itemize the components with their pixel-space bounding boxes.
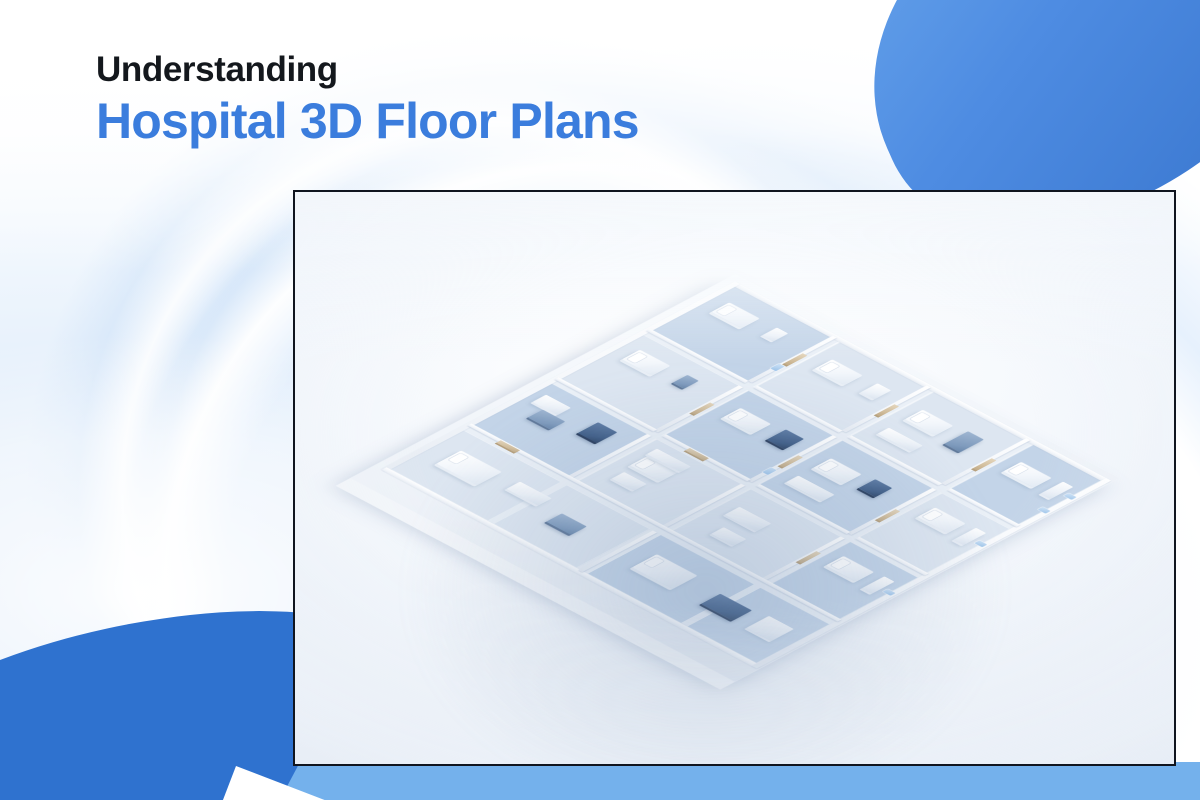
title-eyebrow: Understanding <box>96 52 639 89</box>
hospital-floorplan-image-frame[interactable] <box>293 190 1176 766</box>
scene-shadow <box>355 282 1055 766</box>
title-main: Hospital 3D Floor Plans <box>96 95 639 148</box>
page-title: Understanding Hospital 3D Floor Plans <box>96 52 639 147</box>
light-blue-band <box>236 762 1200 800</box>
poster-canvas: Understanding Hospital 3D Floor Plans <box>0 0 1200 800</box>
render-stage <box>295 192 1174 764</box>
